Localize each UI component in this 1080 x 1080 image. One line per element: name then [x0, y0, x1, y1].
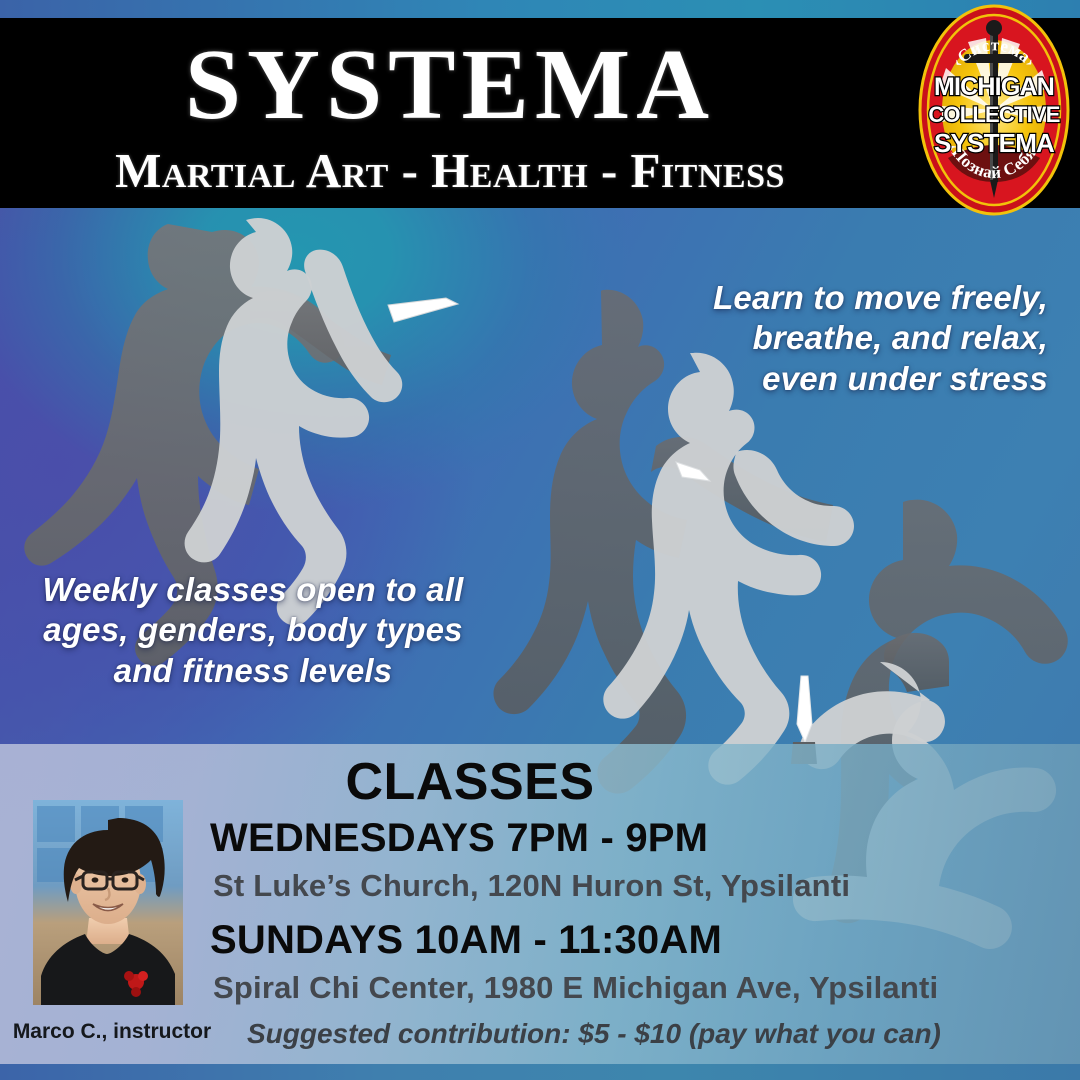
instructor-caption: Marco C., instructor [12, 1020, 212, 1044]
class-location-sunday: Spiral Chi Center, 1980 E Michigan Ave, … [213, 970, 938, 1006]
silhouette-standing-arm-knife-bottom [884, 633, 949, 692]
pitch-right-line-3: even under stress [628, 359, 1048, 399]
photo-eye-left [92, 877, 99, 882]
pitch-text-left: Weekly classes open to all ages, genders… [28, 570, 478, 691]
logo-badge[interactable]: ‹Система› ‹Познай Себя› MICHIGAN COLLECT… [916, 2, 1072, 216]
suggested-contribution: Suggested contribution: $5 - $10 (pay wh… [247, 1018, 941, 1050]
class-location-wednesday: St Luke’s Church, 120N Huron St, Ypsilan… [213, 868, 850, 904]
bottom-blue-strip [0, 1064, 1080, 1080]
pitch-left-line-2: ages, genders, body types [28, 610, 478, 650]
pitch-left-line-1: Weekly classes open to all [28, 570, 478, 610]
pitch-right-line-1: Learn to move freely, [628, 278, 1048, 318]
logo-line-systema: SYSTEMA [934, 128, 1055, 158]
logo-line-collective: COLLECTIVE [928, 102, 1059, 127]
class-time-sunday: SUNDAYS 10AM - 11:30AM [210, 918, 722, 963]
pitch-right-line-2: breathe, and relax, [628, 318, 1048, 358]
instructor-photo [33, 800, 183, 1005]
photo-eye-right [122, 877, 129, 882]
silhouette-partner-arm-right-middle [733, 450, 854, 546]
poster-root: SYSTEMA Martial Art - Health - Fitness [0, 0, 1080, 1080]
logo-line-michigan: MICHIGAN [934, 73, 1054, 101]
page-subtitle: Martial Art - Health - Fitness [0, 146, 900, 195]
instructor-photo-svg [33, 800, 183, 1005]
class-time-wednesday: WEDNESDAYS 7PM - 9PM [210, 816, 708, 861]
silhouette-partner-light-middle [603, 353, 821, 785]
pitch-text-right: Learn to move freely, breathe, and relax… [628, 278, 1048, 399]
pitch-left-line-3: and fitness levels [28, 651, 478, 691]
logo-badge-svg: ‹Система› ‹Познай Себя› MICHIGAN COLLECT… [916, 2, 1072, 216]
page-title: SYSTEMA [0, 34, 900, 135]
classes-heading: CLASSES [190, 752, 750, 812]
knife-blade-top-left [388, 298, 458, 322]
